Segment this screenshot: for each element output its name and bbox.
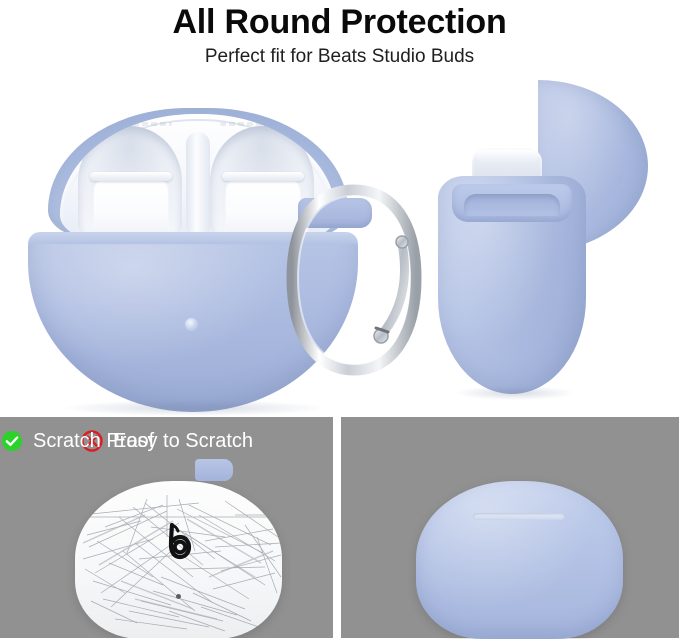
panel-right-label-group: Scratch Proof: [0, 429, 154, 453]
hero-product-images: [0, 72, 679, 417]
case-body-side: [438, 176, 586, 394]
product-image-side-case: [430, 76, 670, 406]
earbud-left-stem: [90, 172, 172, 181]
beats-b-logo: [159, 523, 197, 567]
case-hinge-slit: [473, 513, 565, 520]
panel-right-label-text: Scratch Proof: [33, 429, 154, 453]
earbud-well-left: [78, 126, 182, 238]
case-drop-shadow: [62, 400, 324, 416]
carabiner-clip-icon: [284, 182, 424, 382]
case-led-dot: [176, 594, 181, 599]
led-indicator-dot: [185, 318, 198, 331]
header: All Round Protection Perfect fit for Bea…: [0, 0, 679, 72]
product-image-open-case: [22, 82, 422, 402]
inner-module-cap: [476, 150, 538, 162]
circle-check-icon: [0, 429, 24, 453]
tray-center-divider: [186, 132, 210, 238]
protected-blue-case: [416, 481, 623, 639]
page-title: All Round Protection: [0, 0, 679, 42]
case-side-drop-shadow: [456, 386, 574, 400]
protected-case-loop-tab: [195, 459, 233, 481]
earbud-right-stem: [222, 172, 304, 181]
earbud-left: [94, 178, 168, 238]
page-subtitle: Perfect fit for Beats Studio Buds: [0, 42, 679, 69]
scratched-white-case: [75, 481, 282, 638]
comparison-panels: Easy to Scratch: [0, 417, 679, 638]
case-collar-band: [452, 184, 572, 222]
case-collar-notch: [464, 194, 560, 216]
